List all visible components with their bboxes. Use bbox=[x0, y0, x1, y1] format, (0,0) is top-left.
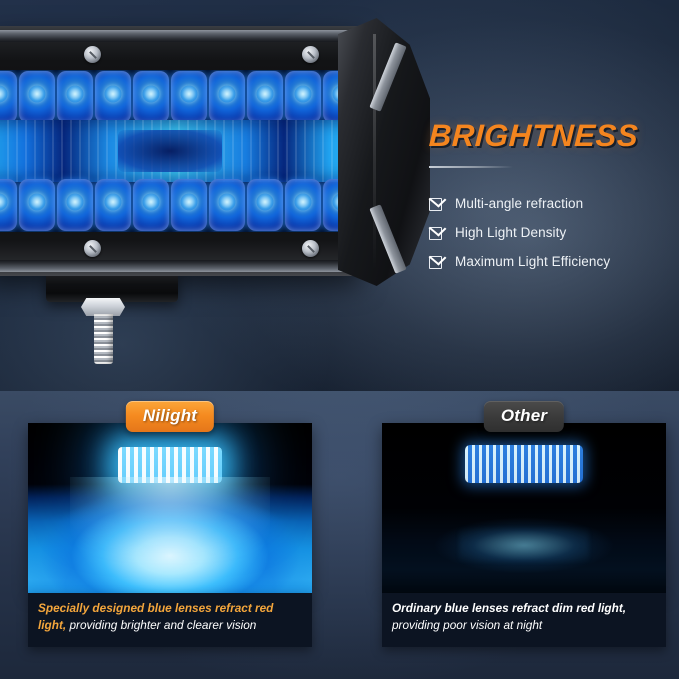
badge-nilight: Nilight bbox=[126, 401, 214, 432]
caption-other: Ordinary blue lenses refract dim red lig… bbox=[382, 593, 666, 647]
led-lens bbox=[171, 179, 207, 231]
comparison-section: Nilight Specially designed blue lenses r… bbox=[0, 391, 679, 679]
led-lens bbox=[133, 71, 169, 123]
lens-row-top bbox=[0, 70, 360, 124]
led-lens bbox=[19, 179, 55, 231]
housing-screw-icon bbox=[302, 240, 319, 257]
lens-reflector-band bbox=[0, 120, 360, 182]
comparison-panel-other: Other Ordinary blue lenses refract dim r… bbox=[382, 423, 666, 647]
feature-list: Multi-angle refraction High Light Densit… bbox=[429, 196, 657, 269]
led-lens bbox=[247, 71, 283, 123]
feature-label: Multi-angle refraction bbox=[455, 196, 583, 211]
feature-item-high-light-density: High Light Density bbox=[429, 225, 657, 240]
housing-top-rail bbox=[0, 30, 360, 42]
checkbox-checked-icon bbox=[429, 254, 444, 269]
brightness-section: BRIGHTNESS Multi-angle refraction High L… bbox=[0, 0, 679, 391]
light-bar-housing bbox=[0, 26, 360, 276]
feature-label: High Light Density bbox=[455, 225, 566, 240]
threaded-bolt bbox=[94, 314, 113, 364]
caption-rest: providing brighter and clearer vision bbox=[66, 618, 256, 632]
brightness-info-block: BRIGHTNESS Multi-angle refraction High L… bbox=[429, 118, 657, 283]
led-lens bbox=[209, 71, 245, 123]
nilight-beam-photo bbox=[28, 423, 312, 593]
led-lens bbox=[57, 71, 93, 123]
housing-screw-icon bbox=[302, 46, 319, 63]
led-light-bar-image bbox=[0, 26, 406, 276]
other-beam-photo bbox=[382, 423, 666, 593]
led-lens bbox=[209, 179, 245, 231]
comparison-panel-nilight: Nilight Specially designed blue lenses r… bbox=[28, 423, 312, 647]
product-infographic: BRIGHTNESS Multi-angle refraction High L… bbox=[0, 0, 679, 679]
housing-screw-icon bbox=[84, 240, 101, 257]
title-divider bbox=[429, 166, 513, 168]
feature-item-multi-angle-refraction: Multi-angle refraction bbox=[429, 196, 657, 211]
led-lens bbox=[285, 71, 321, 123]
led-lens bbox=[285, 179, 321, 231]
caption-nilight: Specially designed blue lenses refract r… bbox=[28, 593, 312, 647]
led-lens bbox=[0, 71, 17, 123]
page-title: BRIGHTNESS bbox=[428, 118, 658, 154]
lens-array bbox=[0, 70, 360, 232]
checkbox-checked-icon bbox=[429, 196, 444, 211]
led-lens bbox=[95, 179, 131, 231]
led-lens bbox=[19, 71, 55, 123]
badge-other: Other bbox=[484, 401, 564, 432]
led-lens bbox=[171, 71, 207, 123]
led-lens bbox=[57, 179, 93, 231]
lens-row-bottom bbox=[0, 178, 360, 232]
caption-highlight: Ordinary blue lenses refract dim red lig… bbox=[392, 601, 626, 615]
led-lens bbox=[133, 179, 169, 231]
led-lens bbox=[0, 179, 17, 231]
housing-bottom-rail bbox=[0, 260, 360, 272]
feature-label: Maximum Light Efficiency bbox=[455, 254, 610, 269]
led-lens bbox=[247, 179, 283, 231]
mount-arm bbox=[46, 272, 178, 302]
checkbox-checked-icon bbox=[429, 225, 444, 240]
feature-item-maximum-light-efficiency: Maximum Light Efficiency bbox=[429, 254, 657, 269]
led-lens bbox=[95, 71, 131, 123]
housing-screw-icon bbox=[84, 46, 101, 63]
caption-rest: providing poor vision at night bbox=[392, 618, 542, 632]
